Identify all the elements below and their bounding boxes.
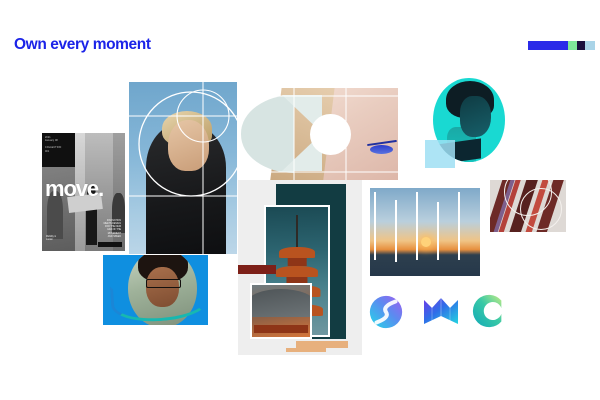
pagoda-roof-2 <box>276 266 318 278</box>
ring-2 <box>520 188 562 230</box>
card-move-poster[interactable]: 2021 January 08 COLLECTION 001 move. Mob… <box>42 133 125 251</box>
tan-accent-bar-1 <box>296 341 348 348</box>
move-caption-left: Mobility in motion <box>46 236 56 242</box>
sunset-background <box>370 188 480 276</box>
move-meta-text: 2021 January 08 COLLECTION 001 <box>45 136 61 153</box>
card-blonde-sky-portrait[interactable] <box>129 82 237 254</box>
card-red-abstract-pattern[interactable] <box>490 180 566 232</box>
logo-s[interactable] <box>367 293 405 331</box>
swatch-green <box>568 41 577 50</box>
move-text-block: 2021 January 08 COLLECTION 001 <box>42 133 75 167</box>
card-sunset-blinds[interactable] <box>370 188 480 276</box>
move-wordmark: move. <box>45 176 103 202</box>
move-caption-right: INNOVATION MEETS DESIGN FOR THE NEW ERA … <box>104 220 121 239</box>
pagoda-tier-1 <box>288 258 307 266</box>
tan-accent-bar-2 <box>286 348 326 352</box>
temple-beam <box>254 325 307 333</box>
logo-c[interactable] <box>470 292 508 330</box>
slat-5 <box>458 192 460 260</box>
page-title: Own every moment <box>14 36 151 54</box>
temple-roof-shape <box>250 289 312 317</box>
light-blue-panel <box>425 140 455 168</box>
temple-roof-photo <box>250 283 312 339</box>
pagoda-spire <box>296 215 298 248</box>
card-abstract-geometry-face[interactable] <box>241 88 398 180</box>
poster-canvas: Own every moment 2021 January 08 COLLECT… <box>0 0 600 400</box>
slat-2 <box>395 200 397 262</box>
move-button-bar[interactable] <box>98 242 122 247</box>
slat-4 <box>437 202 439 260</box>
swatch-light-blue <box>585 41 595 50</box>
face-profile-shape <box>460 96 490 137</box>
teal-curve-accent <box>110 279 208 324</box>
sun-glow <box>421 237 431 247</box>
pagoda-roof-1 <box>279 247 315 259</box>
grid-lines-overlay <box>241 88 398 180</box>
swatch-blue <box>528 41 568 50</box>
logo-m[interactable] <box>421 294 461 330</box>
card-glasses-portrait[interactable] <box>103 255 208 325</box>
red-accent-bar <box>238 265 276 274</box>
card-cyan-duotone-portrait[interactable] <box>425 68 513 174</box>
color-swatch-bar <box>528 41 595 50</box>
slat-1 <box>374 192 376 260</box>
grid-circle-overlay <box>129 82 237 254</box>
card-pagoda-collage[interactable] <box>238 180 362 355</box>
slat-3 <box>416 192 418 260</box>
swatch-dark-navy <box>577 41 585 50</box>
